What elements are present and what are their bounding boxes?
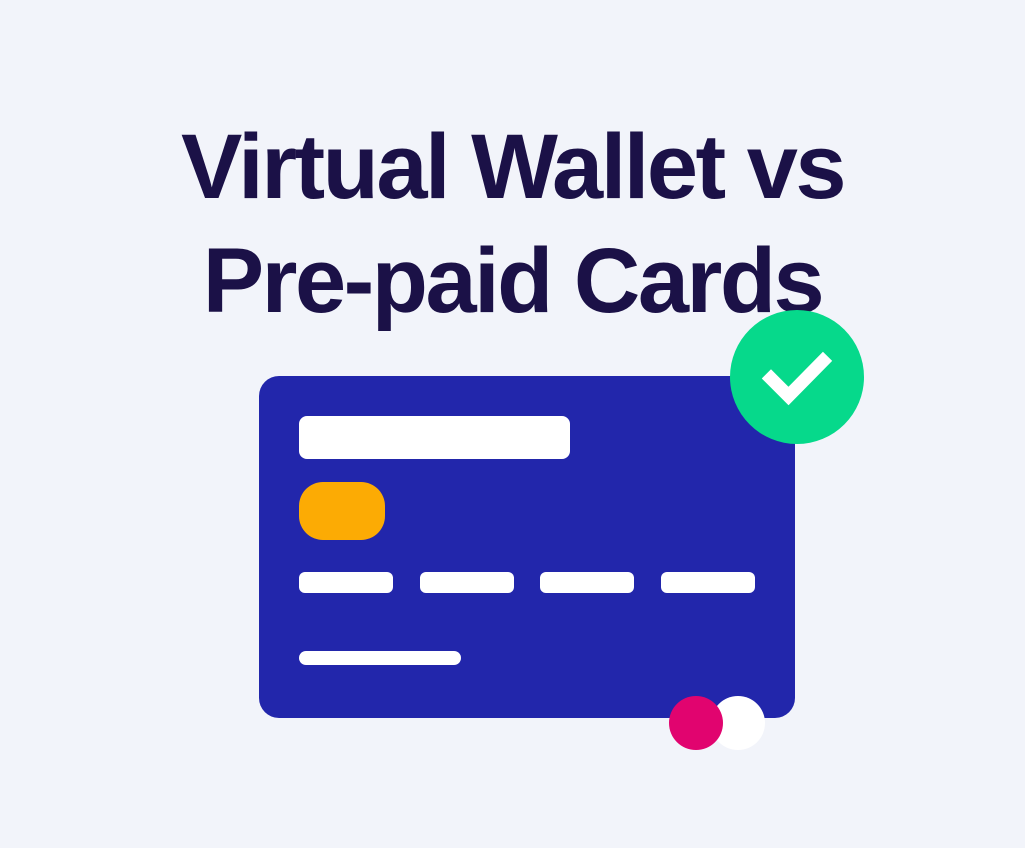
card-network-logo-icon <box>669 696 755 750</box>
card-chip-icon <box>299 482 385 540</box>
card-holder-name-bar <box>299 651 461 665</box>
card-number-block <box>661 572 755 593</box>
check-icon <box>759 339 835 415</box>
card-number-block <box>420 572 514 593</box>
poster-canvas: Virtual Wallet vs Pre-paid Cards <box>0 0 1025 848</box>
network-logo-circle-left <box>669 696 723 750</box>
card-number-block <box>540 572 634 593</box>
credit-card-graphic <box>259 376 795 718</box>
card-number-row <box>299 572 755 593</box>
verified-badge <box>730 310 864 444</box>
page-title-line-1: Virtual Wallet vs <box>0 110 1025 224</box>
card-number-block <box>299 572 393 593</box>
payment-card-illustration <box>259 310 865 720</box>
page-title: Virtual Wallet vs Pre-paid Cards <box>0 110 1025 338</box>
card-brand-strip <box>299 416 570 459</box>
